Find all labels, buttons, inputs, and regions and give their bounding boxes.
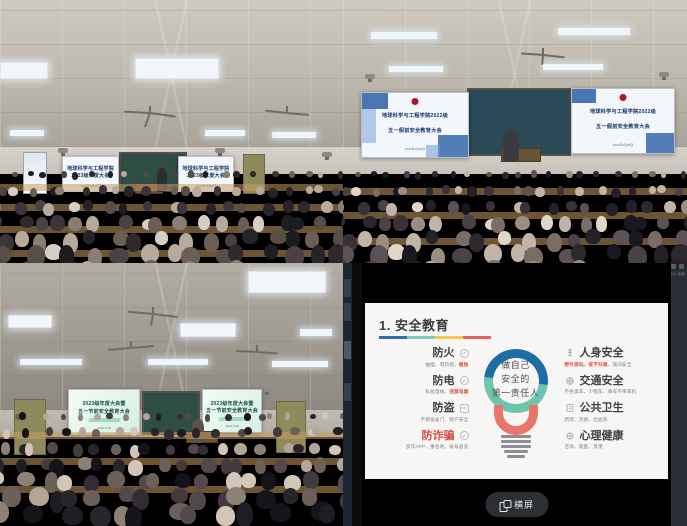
audience-head: [146, 473, 159, 488]
audience-head: [442, 185, 450, 193]
audience-head: [515, 216, 530, 231]
audience-head: [15, 231, 29, 247]
audience-head: [681, 200, 687, 214]
audience-head: [171, 186, 178, 195]
audience-head: [303, 471, 319, 488]
audience-head: [90, 506, 111, 526]
plug-icon: [460, 376, 469, 385]
audience-head: [289, 171, 296, 178]
bulb-line1: 做自己: [480, 359, 552, 373]
audience-head: [180, 506, 196, 524]
audience-head: [228, 260, 245, 263]
audience-head: [1, 442, 11, 454]
audience-head: [242, 229, 257, 244]
audience-head: [363, 216, 377, 229]
audience-head: [256, 186, 264, 195]
audience-head: [91, 457, 102, 471]
audience-head: [61, 490, 77, 507]
audience-head: [94, 414, 101, 420]
audience-head: [124, 186, 134, 196]
slide-left-column: 防火 抽烟、电热毯、蜡烛 防电 私拉电线、违禁电器: [365, 347, 473, 473]
audience-head: [611, 188, 621, 199]
audience-head: [88, 444, 99, 454]
audience-head: [431, 248, 445, 263]
photo-collage: 地球科学与工程学院 2023级年度大会 2023年4月26日 地球科学与工程学院…: [0, 0, 687, 526]
audience-head: [585, 229, 600, 244]
audience-head: [254, 444, 266, 455]
audience-head: [559, 216, 571, 232]
bulb-line3: 第一责任人: [480, 387, 552, 401]
audience-head: [306, 186, 313, 194]
landscape-button-label: 横屏: [514, 498, 534, 511]
audience-head: [448, 201, 459, 214]
audience-head: [225, 414, 232, 422]
audience-head: [241, 473, 257, 488]
audience-head: [119, 203, 128, 215]
audience-head: [681, 171, 686, 178]
audience-head: [285, 412, 290, 420]
audience-head: [55, 187, 64, 194]
item-label: 防盗: [433, 402, 455, 414]
audience-head: [69, 202, 80, 211]
audience-head: [379, 217, 391, 231]
audience-head: [283, 488, 299, 505]
audience-head: [46, 427, 53, 436]
audience-head: [168, 244, 182, 262]
speaker: [503, 130, 519, 162]
audience-head: [223, 171, 230, 178]
audience-head: [143, 201, 152, 211]
audience-head: [107, 471, 125, 488]
audience-head: [432, 171, 438, 177]
audience-head: [484, 186, 494, 196]
item-label: 心理健康: [580, 430, 624, 442]
audience-head: [17, 472, 34, 486]
wheel-icon: [565, 376, 575, 386]
audience-head: [211, 429, 220, 437]
landscape-mode-button[interactable]: 横屏: [485, 492, 548, 517]
audience-head: [576, 171, 583, 178]
audience-head: [426, 230, 439, 244]
audience-head: [270, 503, 290, 522]
audience-head: [198, 445, 208, 455]
item-sub: 咨询、就医、反馈: [565, 444, 669, 450]
audience-head: [206, 203, 216, 215]
audience-head: [351, 187, 361, 196]
audience-head: [99, 185, 107, 193]
audience-head: [412, 202, 423, 211]
audience-head: [214, 186, 221, 195]
audience: [0, 410, 343, 526]
audience-head: [404, 171, 411, 178]
audience-head: [338, 474, 343, 491]
audience-head: [253, 216, 264, 231]
audience-head: [337, 458, 343, 471]
audience-head: [261, 472, 277, 490]
audience-head: [273, 427, 283, 437]
audience-head: [264, 244, 278, 260]
audience-head: [467, 186, 477, 196]
audience-head: [233, 171, 240, 178]
audience-head: [125, 506, 141, 526]
audience-head: [633, 217, 646, 231]
audience-head: [452, 248, 472, 263]
shield-icon: [460, 431, 469, 440]
audience-head: [649, 171, 656, 177]
audience-head: [314, 216, 326, 228]
audience-head: [130, 427, 137, 436]
audience-head: [143, 172, 149, 177]
audience-head: [159, 458, 172, 472]
audience-head: [309, 443, 320, 454]
audience-head: [546, 171, 551, 177]
audience-head: [15, 202, 27, 215]
pen-icon: [460, 349, 469, 358]
audience-head: [415, 172, 421, 180]
audience-head: [654, 245, 668, 263]
bottom-left-photo: 2023级年度大会暨 五一节前安全教育大会 2024.4.28 2023级年度大…: [0, 263, 343, 526]
presentation-slide: 1. 安全教育 防火: [365, 303, 668, 479]
audience-head: [393, 215, 408, 230]
item-sub: 不锁宿舍门、财产安全: [365, 417, 469, 423]
audience-head: [285, 246, 304, 263]
close-button[interactable]: [679, 264, 684, 269]
bulb-line2: 安全的: [480, 373, 552, 387]
audience-head: [566, 201, 577, 210]
audience-head: [469, 233, 485, 252]
audience-head: [426, 200, 436, 211]
audience-head: [143, 413, 150, 421]
audience-head: [151, 428, 158, 436]
audience-head: [121, 171, 127, 177]
audience-head: [524, 186, 532, 196]
audience-head: [290, 427, 300, 434]
audience-head: [62, 428, 72, 436]
audience-head: [43, 203, 54, 216]
audience-head: [177, 414, 184, 420]
bulb-slogan: 做自己 安全的 第一责任人: [480, 359, 552, 401]
audience-head: [272, 171, 279, 178]
audience-head: [126, 233, 142, 252]
audience-head: [358, 231, 372, 247]
audience-head: [531, 170, 536, 178]
audience-head: [175, 473, 191, 488]
audience-head: [628, 246, 647, 263]
audience-head: [382, 172, 389, 178]
audience-head: [333, 427, 343, 434]
audience-head: [398, 187, 407, 194]
audience-head: [340, 413, 343, 419]
audience-head: [657, 216, 669, 228]
audience-head: [607, 244, 621, 260]
slide-item-fangzhapian: 防诈骗 反诈APP、重名地、账号盗充: [365, 430, 469, 451]
brain-icon: [565, 431, 575, 441]
audience-head: [62, 506, 84, 525]
audience-head: [23, 505, 44, 523]
audience-head: [340, 491, 343, 511]
audience-head: [39, 172, 46, 178]
audience-head: [50, 215, 65, 230]
slide-heading-underline: [379, 336, 491, 339]
slide-item-renshenanquan: 人身安全 野外游玩、夜不归宿、夜间安全: [565, 347, 669, 368]
item-sub: 新冠、流感、出血热: [565, 417, 669, 423]
audience-head: [36, 217, 48, 231]
audience-head: [72, 172, 78, 180]
audience-head: [355, 172, 361, 177]
audience-head: [312, 427, 319, 435]
audience-head: [156, 413, 161, 421]
audience-head: [79, 427, 86, 436]
bottom-right-video: 参会人 全部 1. 安全教育 防火: [343, 263, 687, 526]
item-label: 人身安全: [580, 347, 624, 359]
audience-head: [0, 471, 4, 484]
screen-date-b: 2024年4月28日: [572, 143, 674, 147]
item-sub: 野外游玩、夜不归宿、夜间安全: [565, 362, 669, 368]
audience-head: [116, 427, 124, 434]
item-label: 防火: [433, 347, 455, 359]
slide-center-bulb: 做自己 安全的 第一责任人: [473, 347, 559, 473]
slide-item-xinlijiankang: 心理健康 咨询、就医、反馈: [565, 430, 669, 451]
audience-head: [159, 172, 165, 179]
audience-head: [83, 200, 93, 211]
audience-head: [83, 490, 101, 506]
audience-head: [29, 487, 49, 507]
audience-head: [89, 171, 95, 177]
audience-head: [201, 458, 216, 473]
audience-head: [141, 186, 151, 196]
screen-title-line2-b: 五一假前安全教育大会: [596, 124, 650, 130]
audience-head: [286, 187, 294, 196]
audience-head: [462, 203, 471, 215]
slide-item-fangdian: 防电 私拉电线、违禁电器: [365, 375, 469, 396]
audience-head: [205, 414, 211, 422]
audience-head: [615, 171, 622, 178]
audience-head: [172, 216, 187, 231]
screen-date: 2024年4月28日: [362, 147, 468, 151]
audience-head: [61, 414, 67, 421]
audience-head: [237, 203, 246, 213]
audience-head: [164, 429, 174, 440]
audience-head: [632, 171, 639, 178]
audience-head: [580, 203, 589, 213]
audience-head: [626, 200, 637, 213]
audience-head: [28, 171, 34, 177]
projection-screen-left: 地球科学与工程学院2022级 五一假前安全教育大会 2024年4月28日: [361, 92, 469, 158]
audience-head: [314, 185, 323, 193]
maximize-button[interactable]: [671, 264, 676, 269]
audience-head: [274, 459, 287, 472]
audience-head: [329, 445, 341, 455]
audience-head: [176, 460, 187, 472]
rotate-screen-icon: [499, 500, 509, 510]
audience-head: [123, 414, 129, 421]
top-right-photo: 地球科学与工程学院2022级 五一假前安全教育大会 2024年4月28日 地球科…: [343, 0, 687, 263]
audience-head: [109, 248, 129, 263]
audience-head: [593, 171, 599, 177]
audience-head: [106, 413, 112, 419]
shared-screen-stage: 1. 安全教育 防火: [362, 263, 671, 526]
item-sub: 私拉电线、违禁电器: [365, 389, 469, 395]
audience-head: [171, 488, 188, 503]
audience-head: [451, 171, 456, 179]
audience-head: [16, 459, 27, 473]
audience-head: [204, 233, 219, 252]
audience-head: [566, 171, 573, 178]
audience-head: [194, 474, 209, 489]
right-sidebar: [671, 263, 687, 526]
audience-head: [263, 203, 274, 216]
slide-item-gonggongweisheng: 公共卫生 新冠、流感、出血热: [565, 402, 669, 423]
audience-head: [12, 172, 18, 177]
audience-head: [557, 186, 564, 195]
audience-head: [596, 216, 607, 231]
audience-head: [30, 188, 37, 197]
slide-item-jiaotonganquan: 交通安全 不坐黑车、少租车、骑车不带耳机: [565, 375, 669, 396]
audience-head: [244, 413, 251, 421]
audience-head: [547, 233, 562, 252]
screen-title-line1: 地球科学与工程学院2022级: [382, 113, 448, 119]
audience-head: [322, 412, 328, 419]
clipboard-icon: [565, 403, 575, 413]
audience-head: [629, 187, 637, 196]
audience-head: [535, 187, 545, 197]
audience-head: [22, 428, 29, 438]
audience-head: [234, 443, 246, 455]
audience-head: [373, 188, 380, 197]
screen-title-line1: 2023级年度大会暨: [82, 401, 125, 407]
audience-head: [73, 444, 82, 457]
item-label: 公共卫生: [580, 402, 624, 414]
audience-head: [502, 172, 508, 179]
audience-head: [47, 442, 58, 454]
audience-head: [192, 187, 202, 197]
audience-head: [119, 215, 133, 229]
person-icon: [565, 348, 575, 358]
audience-head: [83, 230, 96, 244]
audience-head: [267, 413, 272, 419]
audience-head: [138, 443, 150, 455]
audience-head: [549, 203, 559, 215]
audience-head: [112, 186, 119, 194]
audience-head: [541, 215, 553, 230]
audience-head: [298, 201, 310, 213]
audience-head: [321, 201, 333, 213]
audience-head: [411, 217, 425, 231]
audience-head: [250, 171, 256, 177]
slide-right-column: 人身安全 野外游玩、夜不归宿、夜间安全 交通安全 不坐黑车、少租车、骑车不带耳机: [559, 347, 669, 473]
item-label: 交通安全: [580, 375, 624, 387]
audience-head: [172, 172, 178, 178]
audience-head: [25, 443, 34, 456]
audience-head: [462, 215, 476, 229]
audience-head: [236, 502, 253, 526]
item-label: 防诈骗: [422, 430, 455, 442]
participant-strip[interactable]: [343, 263, 352, 526]
audience-head: [629, 230, 643, 248]
audience-head: [661, 172, 666, 178]
audience: [0, 168, 343, 263]
audience-head: [514, 186, 521, 195]
audience-head: [268, 188, 278, 199]
audience-head: [426, 187, 433, 196]
audience-head: [181, 186, 189, 196]
audience-head: [68, 217, 82, 231]
audience-head: [43, 413, 49, 420]
audience-head: [515, 172, 521, 178]
audience-head: [318, 172, 323, 178]
item-sub: 反诈APP、重名地、账号盗充: [365, 444, 469, 450]
audience-head: [286, 230, 300, 248]
audience-head: [358, 202, 370, 215]
item-sub: 不坐黑车、少租车、骑车不带耳机: [565, 389, 669, 395]
audience-head: [606, 203, 617, 216]
audience-head: [664, 201, 676, 213]
audience-head: [293, 444, 304, 453]
audience-head: [486, 172, 492, 177]
audience-head: [0, 187, 7, 196]
audience-head: [155, 231, 168, 244]
audience-head: [216, 506, 235, 526]
audience-head: [78, 414, 84, 421]
audience-head: [192, 428, 200, 438]
audience-head: [259, 414, 266, 421]
audience-head: [649, 186, 656, 194]
audience-head: [232, 187, 240, 196]
audience-head: [371, 171, 377, 177]
audience-head: [310, 414, 317, 420]
audience-head: [185, 413, 192, 421]
audience-head: [464, 171, 470, 177]
audience-head: [641, 201, 653, 213]
audience-head: [128, 460, 143, 476]
audience-head: [111, 444, 121, 456]
top-left-photo: 地球科学与工程学院 2023级年度大会 2023年4月26日 地球科学与工程学院…: [0, 0, 343, 263]
audience-head: [270, 230, 287, 244]
audience-head: [343, 201, 344, 213]
audience-head: [301, 460, 311, 472]
screen-title-line2: 五一假前安全教育大会: [388, 128, 442, 134]
audience: [343, 168, 687, 263]
audience-head: [83, 187, 90, 196]
audience-head: [511, 244, 525, 262]
audience-head: [306, 171, 313, 177]
audience-head: [8, 187, 18, 196]
slide-item-fangdao: 防盗 不锁宿舍门、财产安全: [365, 402, 469, 423]
screen-title-line1-b: 2023级年度大会暨: [210, 401, 253, 407]
audience-head: [203, 171, 208, 177]
audience-head: [498, 231, 511, 244]
slide-item-fanghuo: 防火 抽烟、电热毯、蜡烛: [365, 347, 469, 368]
screen-title-line1-b: 地球科学与工程学院2022级: [590, 109, 656, 115]
audience-head: [338, 171, 343, 178]
audience-head: [486, 201, 495, 211]
slide-heading: 1. 安全教育: [379, 315, 449, 334]
audience-head: [575, 187, 583, 196]
item-sub: 抽烟、电热毯、蜡烛: [365, 362, 469, 368]
audience-head: [290, 217, 303, 231]
audience-head: [218, 443, 228, 456]
audience-head: [92, 429, 101, 438]
audience-head: [332, 188, 340, 196]
audience-head: [675, 188, 683, 196]
audience-head: [319, 505, 336, 523]
video-conference-window: 参会人 全部 1. 安全教育 防火: [343, 263, 687, 526]
audience-head: [61, 171, 68, 178]
audience-head: [198, 215, 210, 230]
audience-head: [166, 445, 176, 455]
audience-head: [223, 201, 234, 210]
projection-screen-right: 地球科学与工程学院2022级 五一假前安全教育大会 2024年4月28日: [571, 88, 675, 154]
